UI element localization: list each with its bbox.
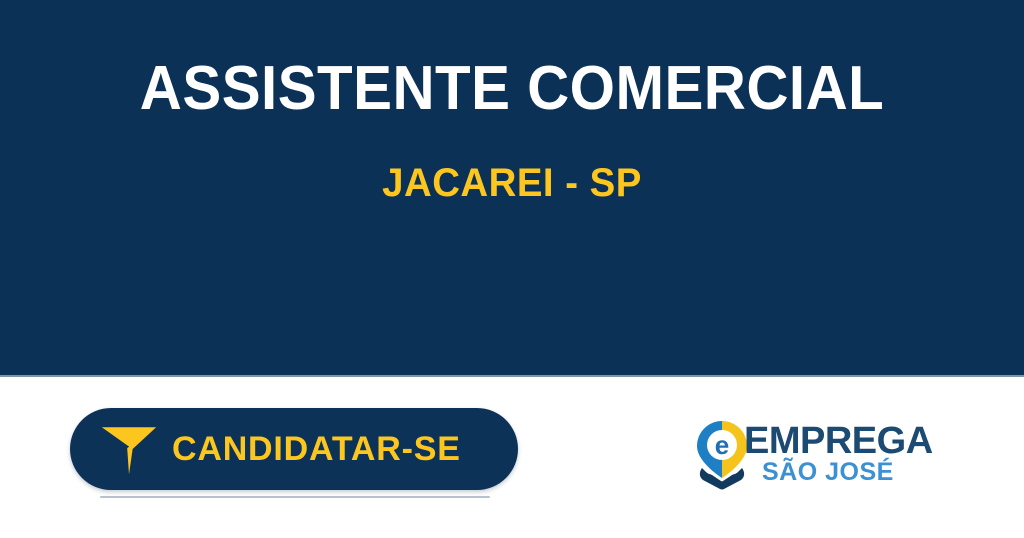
brand-wordmark: EMPREGA SÃO JOSÉ [744,420,914,490]
job-location: JACAREI - SP [20,162,1003,204]
apply-button[interactable]: CANDIDATAR-SE [70,408,518,490]
apply-button-label: CANDIDATAR-SE [172,430,461,469]
brand-logo: e EMPREGA SÃO JOSÉ [696,420,911,490]
brand-name: EMPREGA [744,422,933,460]
job-posting-card: ASSISTENTE COMERCIAL JACAREI - SP CANDID… [0,0,1024,538]
brand-city: SÃO JOSÉ [762,460,894,485]
svg-text:e: e [715,430,729,460]
page-title: ASSISTENTE COMERCIAL [31,56,994,121]
button-shadow-line [100,496,490,498]
hero-banner: ASSISTENTE COMERCIAL JACAREI - SP [0,0,1024,375]
paper-plane-icon [100,420,158,478]
map-pin-icon: e [696,420,748,490]
